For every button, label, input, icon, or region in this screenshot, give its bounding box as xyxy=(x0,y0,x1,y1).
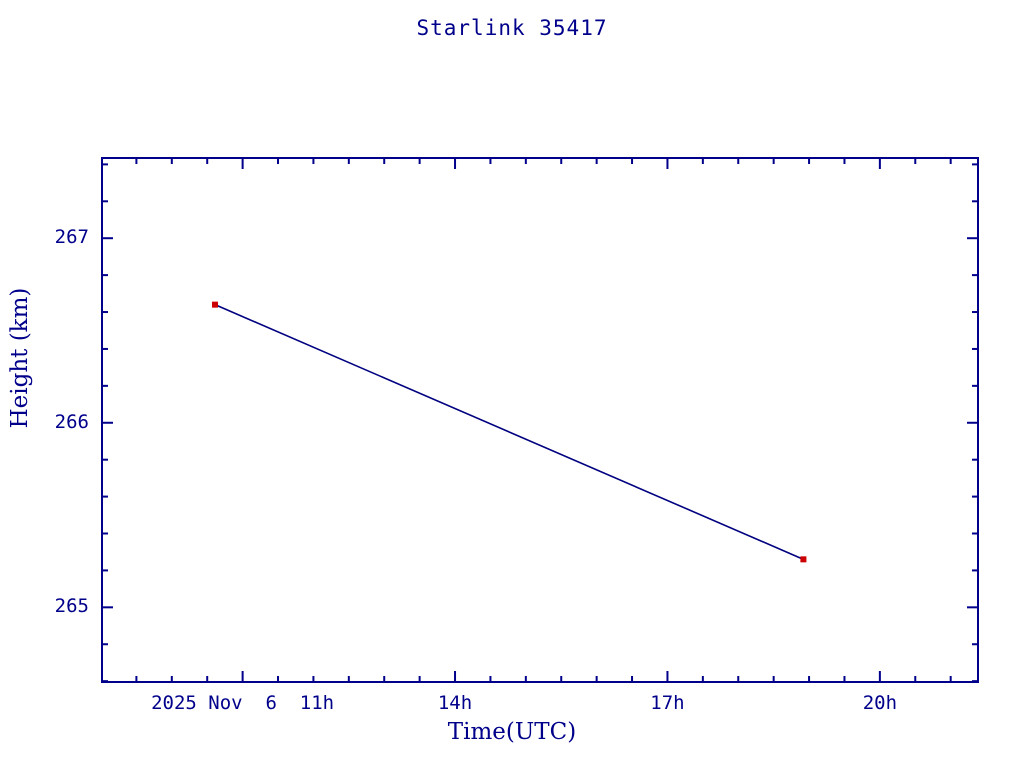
data-line-0 xyxy=(215,305,803,560)
chart-page: Starlink 35417 Height (km) 265266267 202… xyxy=(0,0,1024,768)
x-axis-label: Time(UTC) xyxy=(0,719,1024,745)
x-tick-label: 14h xyxy=(438,692,472,714)
data-point-marker xyxy=(212,302,218,308)
x-tick-label: 20h xyxy=(863,692,897,714)
x-tick-label: 17h xyxy=(650,692,684,714)
y-tick-label: 266 xyxy=(19,411,89,433)
y-tick-label: 265 xyxy=(19,595,89,617)
x-tick-label: 2025 Nov 6 11h xyxy=(151,692,334,714)
data-point-marker xyxy=(800,556,806,562)
chart-title: Starlink 35417 xyxy=(0,16,1024,40)
y-tick-label: 267 xyxy=(19,226,89,248)
plot-area xyxy=(101,157,979,683)
